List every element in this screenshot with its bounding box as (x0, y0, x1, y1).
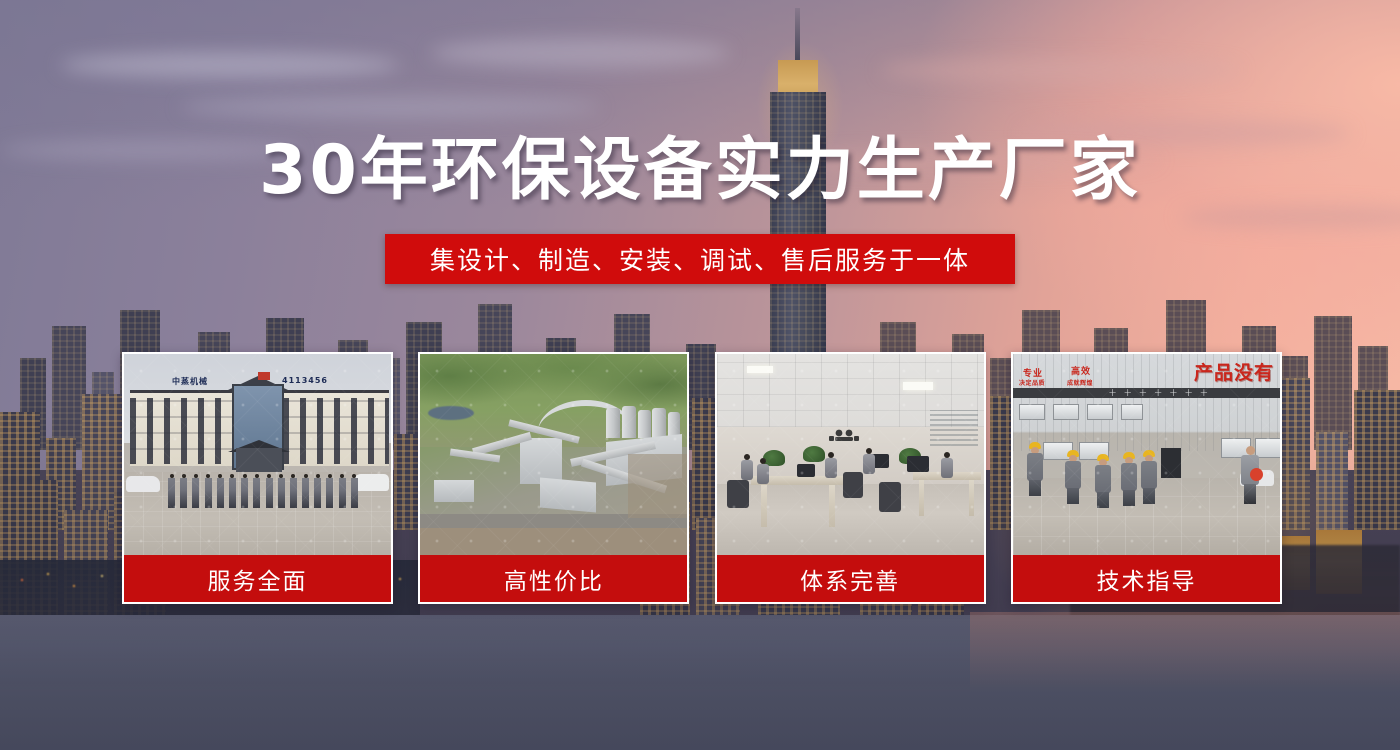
card-label: 服务全面 (124, 555, 391, 602)
card-label: 高性价比 (420, 555, 687, 602)
wall-logo (827, 424, 861, 446)
feature-card-row: 中蒸机械 4113456 服务全面 (122, 352, 1282, 604)
feature-card[interactable]: 中蒸机械 4113456 服务全面 (122, 352, 393, 604)
card-label-text: 服务全面 (208, 562, 308, 596)
card-photo-workers-in-hardhats-at-factory: 产品没有 专业 高效 决定品质 成就辉煌 十 十 十 十 十 十 十 (1013, 354, 1280, 557)
card-label-text: 技术指导 (1096, 562, 1196, 596)
card-label-text: 体系完善 (800, 562, 900, 596)
card-photo-company-office-building-with-staff: 中蒸机械 4113456 (124, 354, 391, 557)
banner-subtitle-text: 集设计、制造、安装、调试、售后服务于一体 (430, 241, 970, 277)
card-photo-office-interior-with-employees (717, 354, 984, 557)
banner-subtitle-bar: 集设计、制造、安装、调试、售后服务于一体 (385, 234, 1015, 284)
factory-sign-text: 产品没有 (1194, 358, 1274, 385)
banner-content: 30年环保设备实力生产厂家 集设计、制造、安装、调试、售后服务于一体 中蒸机 (0, 0, 1400, 750)
factory-slogan-d: 成就辉煌 (1067, 378, 1093, 387)
feature-card[interactable]: 体系完善 (715, 352, 986, 604)
feature-card[interactable]: 高性价比 (418, 352, 689, 604)
feature-card[interactable]: 产品没有 专业 高效 决定品质 成就辉煌 十 十 十 十 十 十 十 (1011, 352, 1282, 604)
card-photo-aerial-view-industrial-plant (420, 354, 687, 557)
building-sign-text: 中蒸机械 (172, 376, 208, 387)
card-label-text: 高性价比 (504, 562, 604, 596)
banner-headline: 30年环保设备实力生产厂家 (0, 133, 1400, 209)
card-label: 技术指导 (1013, 555, 1280, 602)
factory-slogan-b: 高效 (1071, 364, 1091, 377)
building-phone-text: 4113456 (282, 376, 328, 385)
factory-slogan-c: 决定品质 (1019, 378, 1045, 387)
card-label: 体系完善 (717, 555, 984, 602)
